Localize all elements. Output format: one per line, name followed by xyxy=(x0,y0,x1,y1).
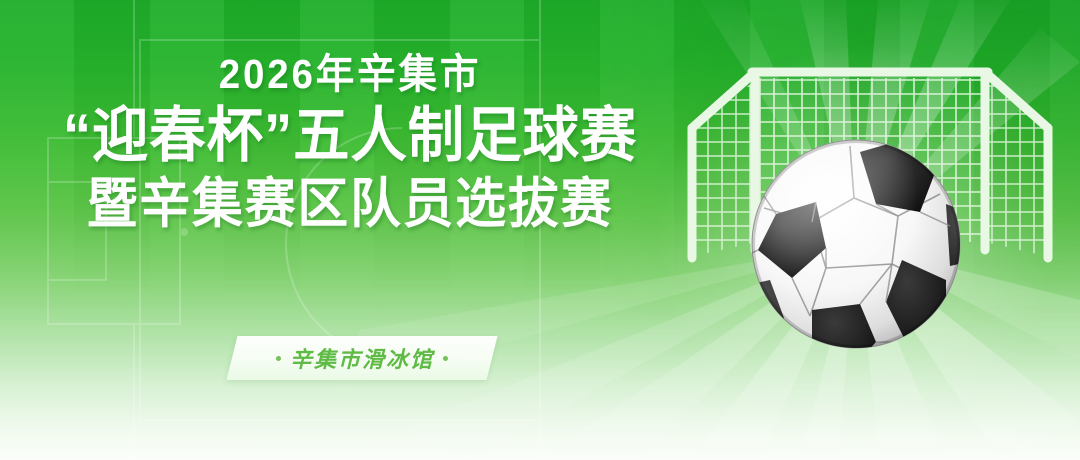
title-line-main: “迎春杯”五人制足球赛 xyxy=(21,104,679,169)
bullet-left-icon xyxy=(276,356,281,361)
title-line-sub: 暨辛集赛区队员选拔赛 xyxy=(21,175,679,233)
soccer-ball-icon xyxy=(750,138,962,350)
venue-name: 辛集市滑冰馆 xyxy=(290,342,434,374)
poster-title: 2026年辛集市 “迎春杯”五人制足球赛 暨辛集赛区队员选拔赛 xyxy=(0,52,700,233)
bullet-right-icon xyxy=(443,356,448,361)
title-line-year: 2026年辛集市 xyxy=(21,52,679,96)
venue-badge: 辛集市滑冰馆 xyxy=(227,336,498,380)
event-banner: 2026年辛集市 “迎春杯”五人制足球赛 暨辛集赛区队员选拔赛 辛集市滑冰馆 xyxy=(0,0,1080,460)
